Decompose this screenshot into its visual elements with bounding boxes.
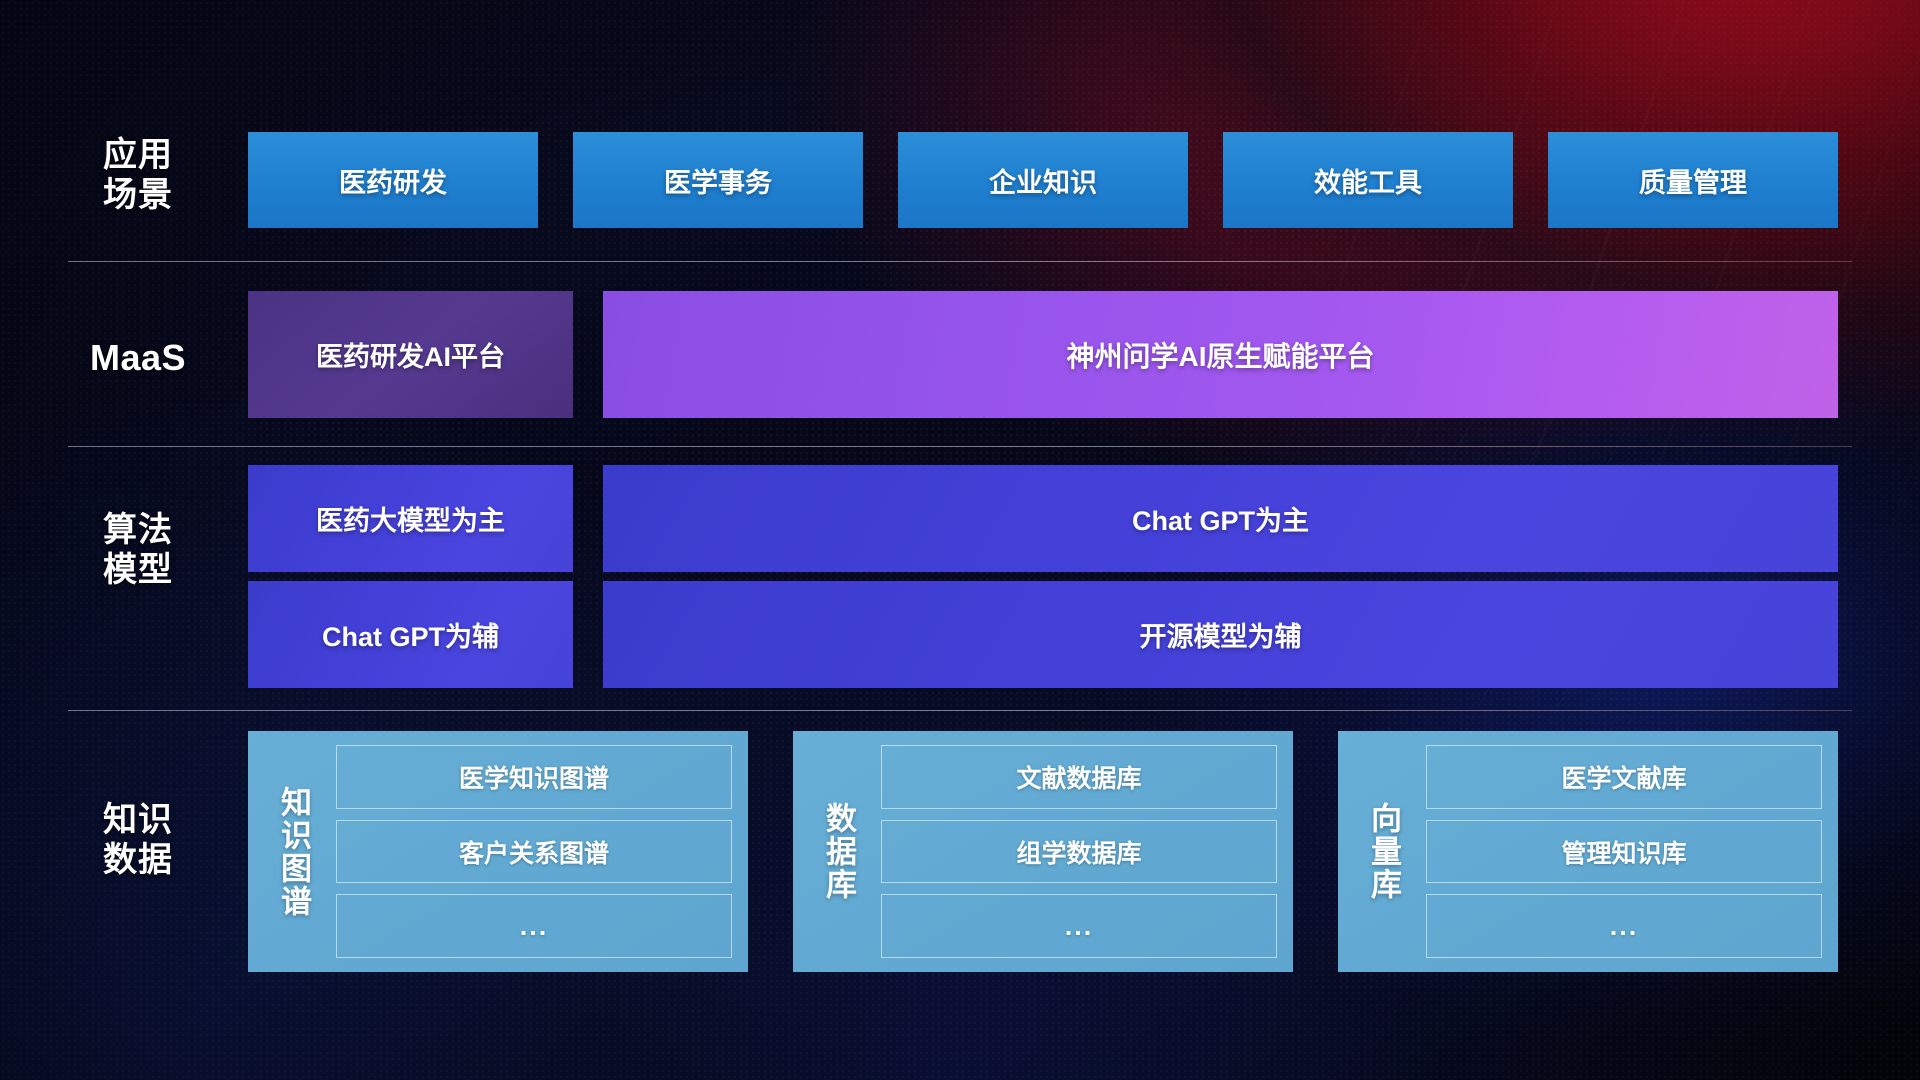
- divider-after-algorithm: [68, 710, 1852, 711]
- app-box-label: 企业知识: [989, 161, 1097, 200]
- knowledge-item-management-knowledge-store[interactable]: 管理知识库: [1426, 820, 1822, 884]
- knowledge-panel-item-list: 医学文献库 管理知识库 ...: [1414, 745, 1822, 958]
- maas-box-label: 神州问学AI原生赋能平台: [1066, 335, 1374, 375]
- knowledge-panel-knowledge-graph[interactable]: 知识图谱 医学知识图谱 客户关系图谱 ...: [248, 731, 748, 972]
- knowledge-item-medical-literature-store[interactable]: 医学文献库: [1426, 745, 1822, 809]
- algo-box-chatgpt-secondary[interactable]: Chat GPT为辅: [248, 581, 573, 688]
- knowledge-panel-item-list: 医学知识图谱 客户关系图谱 ...: [324, 745, 732, 958]
- knowledge-panel-vertical-label: 数据库: [807, 745, 869, 958]
- algo-box-label: 开源模型为辅: [1140, 615, 1302, 654]
- knowledge-item-more[interactable]: ...: [881, 894, 1277, 958]
- knowledge-panel-vertical-label: 知识图谱: [262, 745, 324, 958]
- knowledge-panel-item-list: 文献数据库 组学数据库 ...: [869, 745, 1277, 958]
- app-box-medical-affairs[interactable]: 医学事务: [573, 132, 863, 228]
- algo-box-label: Chat GPT为主: [1132, 499, 1309, 538]
- app-box-enterprise-knowledge[interactable]: 企业知识: [898, 132, 1188, 228]
- maas-box-pharma-ai-platform[interactable]: 医药研发AI平台: [248, 291, 573, 418]
- maas-box-label: 医药研发AI平台: [316, 335, 505, 374]
- maas-box-shenzhou-wenxue-platform[interactable]: 神州问学AI原生赋能平台: [603, 291, 1838, 418]
- knowledge-item-more[interactable]: ...: [1426, 894, 1822, 958]
- divider-after-application: [68, 261, 1852, 262]
- algo-box-label: 医药大模型为主: [316, 499, 505, 538]
- row-label-line: 算法: [68, 510, 208, 550]
- knowledge-panel-vector-store[interactable]: 向量库 医学文献库 管理知识库 ...: [1338, 731, 1838, 972]
- app-box-label: 效能工具: [1314, 161, 1422, 200]
- row-label-line: 应用: [68, 135, 208, 175]
- knowledge-item-customer-relation-graph[interactable]: 客户关系图谱: [336, 820, 732, 884]
- row-label-application-scenarios: 应用 场景: [68, 135, 208, 215]
- knowledge-item-literature-database[interactable]: 文献数据库: [881, 745, 1277, 809]
- row-label-algorithm-models: 算法 模型: [68, 510, 208, 590]
- knowledge-panel-database[interactable]: 数据库 文献数据库 组学数据库 ...: [793, 731, 1293, 972]
- app-box-medicine-rd[interactable]: 医药研发: [248, 132, 538, 228]
- algo-box-label: Chat GPT为辅: [322, 615, 499, 654]
- knowledge-panel-vertical-label: 向量库: [1352, 745, 1414, 958]
- algo-box-open-source-secondary[interactable]: 开源模型为辅: [603, 581, 1838, 688]
- app-box-label: 医学事务: [664, 161, 772, 200]
- app-box-efficiency-tools[interactable]: 效能工具: [1223, 132, 1513, 228]
- app-box-quality-management[interactable]: 质量管理: [1548, 132, 1838, 228]
- row-label-line: 模型: [68, 550, 208, 590]
- divider-after-maas: [68, 446, 1852, 447]
- knowledge-item-medical-knowledge-graph[interactable]: 医学知识图谱: [336, 745, 732, 809]
- algo-box-chatgpt-primary[interactable]: Chat GPT为主: [603, 465, 1838, 572]
- algo-box-pharma-large-model-primary[interactable]: 医药大模型为主: [248, 465, 573, 572]
- app-box-label: 医药研发: [339, 161, 447, 200]
- row-label-maas: MaaS: [68, 337, 208, 379]
- row-label-line: MaaS: [68, 337, 208, 379]
- app-box-label: 质量管理: [1639, 161, 1747, 200]
- architecture-diagram: 应用 场景 医药研发 医学事务 企业知识 效能工具 质量管理 MaaS 医药研发…: [0, 0, 1920, 1080]
- row-label-knowledge-data: 知识 数据: [68, 800, 208, 880]
- knowledge-item-omics-database[interactable]: 组学数据库: [881, 820, 1277, 884]
- row-label-line: 知识: [68, 800, 208, 840]
- slide-canvas: 应用 场景 医药研发 医学事务 企业知识 效能工具 质量管理 MaaS 医药研发…: [0, 0, 1920, 1080]
- knowledge-item-more[interactable]: ...: [336, 894, 732, 958]
- row-label-line: 场景: [68, 175, 208, 215]
- row-label-line: 数据: [68, 840, 208, 880]
